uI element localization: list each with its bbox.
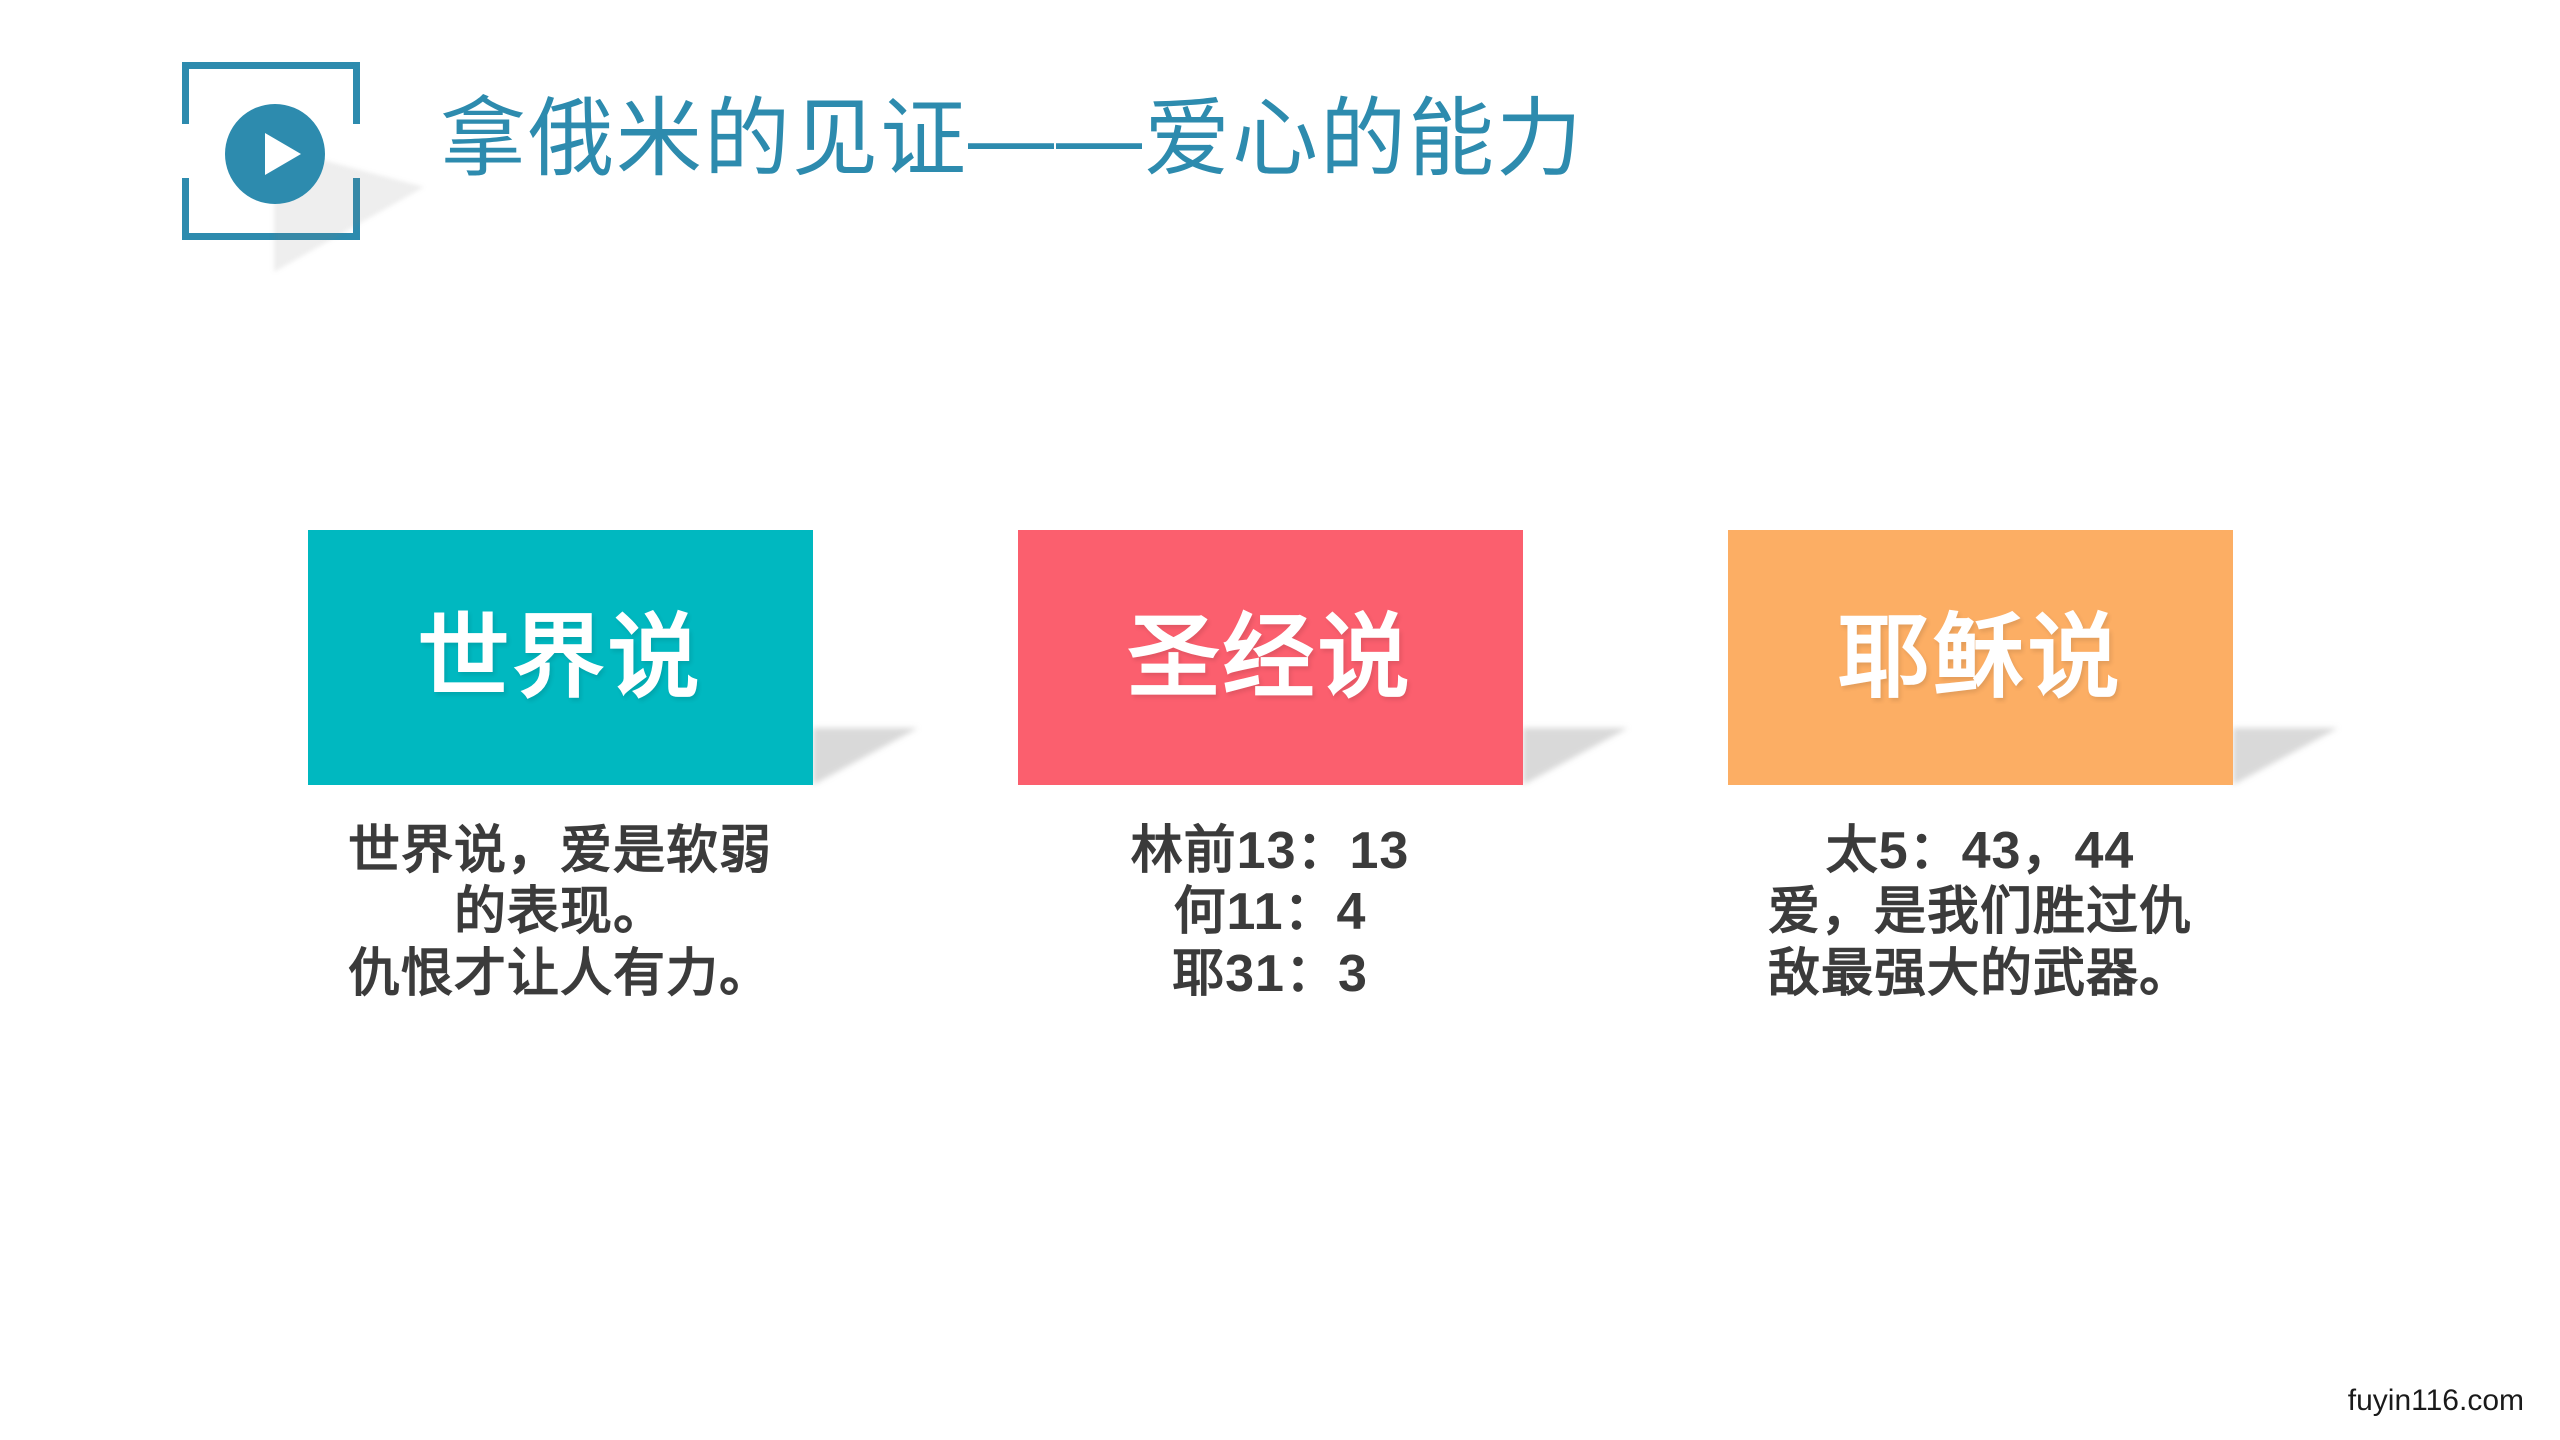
- card-shadow-bible: [1523, 728, 1628, 785]
- frame-edge-top-icon: [237, 62, 305, 69]
- caption-line: 世界说，爱是软弱: [240, 821, 880, 882]
- caption-line: 何11：4: [950, 882, 1590, 943]
- slide-header: 拿俄米的见证——爱心的能力: [0, 0, 2560, 260]
- card-bible[interactable]: 圣经说: [1018, 530, 1523, 785]
- column-bible: 圣经说 林前13：13 何11：4 耶31：3: [950, 520, 1590, 1200]
- caption-line: 仇恨才让人有力。: [240, 944, 880, 1005]
- card-world[interactable]: 世界说: [308, 530, 813, 785]
- card-label-bible: 圣经说: [1127, 612, 1412, 704]
- card-wrap-jesus: 耶稣说: [1728, 520, 2233, 785]
- card-wrap-world: 世界说: [308, 520, 813, 785]
- caption-line: 太5：43，44: [1660, 821, 2300, 882]
- card-shadow-world: [813, 728, 918, 785]
- card-label-jesus: 耶稣说: [1837, 612, 2122, 704]
- play-icon: [225, 104, 325, 204]
- caption-line: 敌最强大的武器。: [1660, 944, 2300, 1005]
- caption-line: 爱，是我们胜过仇: [1660, 882, 2300, 943]
- card-shadow-jesus: [2233, 728, 2338, 785]
- card-label-world: 世界说: [417, 612, 702, 704]
- card-wrap-bible: 圣经说: [1018, 520, 1523, 785]
- caption-line: 的表现。: [240, 882, 880, 943]
- caption-jesus: 太5：43，44 爱，是我们胜过仇 敌最强大的武器。: [1660, 821, 2300, 1005]
- logo-mark: [182, 62, 360, 240]
- frame-corner-top-right-icon: [298, 62, 360, 124]
- frame-corner-bottom-left-icon: [182, 178, 244, 240]
- site-watermark: fuyin116.com: [2348, 1384, 2524, 1418]
- comparison-columns: 世界说 世界说，爱是软弱 的表现。 仇恨才让人有力。 圣经说 林前13：13 何…: [0, 520, 2560, 1200]
- column-jesus: 耶稣说 太5：43，44 爱，是我们胜过仇 敌最强大的武器。: [1660, 520, 2300, 1200]
- caption-line: 林前13：13: [950, 821, 1590, 882]
- caption-line: 耶31：3: [950, 944, 1590, 1005]
- card-jesus[interactable]: 耶稣说: [1728, 530, 2233, 785]
- page-title: 拿俄米的见证——爱心的能力: [440, 90, 1584, 189]
- caption-bible: 林前13：13 何11：4 耶31：3: [950, 821, 1590, 1005]
- play-triangle-icon: [265, 133, 301, 175]
- caption-world: 世界说，爱是软弱 的表现。 仇恨才让人有力。: [240, 821, 880, 1005]
- column-world: 世界说 世界说，爱是软弱 的表现。 仇恨才让人有力。: [240, 520, 880, 1200]
- frame-corner-top-left-icon: [182, 62, 244, 124]
